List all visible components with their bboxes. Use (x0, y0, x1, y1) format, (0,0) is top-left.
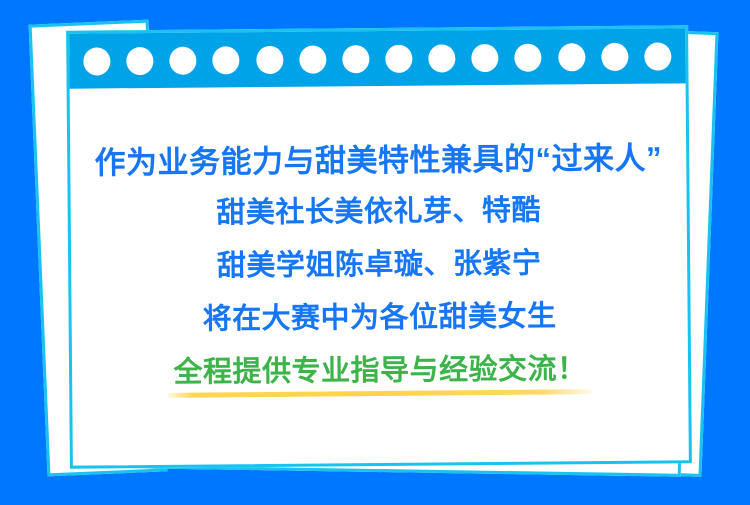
poster-line-5-highlight: 全程提供专业指导与经验交流！ (173, 355, 586, 388)
punch-hole-icon (644, 42, 671, 70)
main-note-card: 作为业务能力与甜美特性兼具的“过来人” 甜美社长美依礼芽、特酷 甜美学姐陈卓璇、… (66, 25, 692, 468)
poster-line-4: 将在大赛中为各位甜美女生 (202, 302, 556, 334)
poster-line-3: 甜美学姐陈卓璇、张紫宁 (217, 250, 542, 282)
punch-hole-icon (515, 43, 542, 71)
punch-hole-icon (170, 46, 197, 74)
poster-text-body: 作为业务能力与甜美特性兼具的“过来人” 甜美社长美依礼芽、特酷 甜美学姐陈卓璇、… (70, 83, 689, 465)
punch-hole-icon (83, 47, 110, 75)
punch-hole-icon (126, 46, 153, 74)
punch-hole-icon (385, 44, 412, 72)
punch-hole-icon (256, 45, 283, 73)
highlight-line-wrapper: 全程提供专业指导与经验交流！ (173, 355, 586, 398)
punched-header-band (69, 28, 685, 88)
poster-line-1: 作为业务能力与甜美特性兼具的“过来人” (94, 143, 662, 179)
punch-hole-icon (558, 43, 585, 71)
punch-hole-icon (428, 44, 455, 72)
poster-line-2: 甜美社长美依礼芽、特酷 (216, 197, 541, 229)
poster-canvas: 作为业务能力与甜美特性兼具的“过来人” 甜美社长美依礼芽、特酷 甜美学姐陈卓璇、… (0, 0, 750, 505)
punch-hole-icon (471, 43, 498, 71)
punch-hole-icon (299, 45, 326, 73)
punch-hole-icon (213, 46, 240, 74)
punch-hole-icon (601, 42, 628, 70)
punch-hole-icon (342, 45, 369, 73)
highlight-underline (168, 389, 593, 398)
